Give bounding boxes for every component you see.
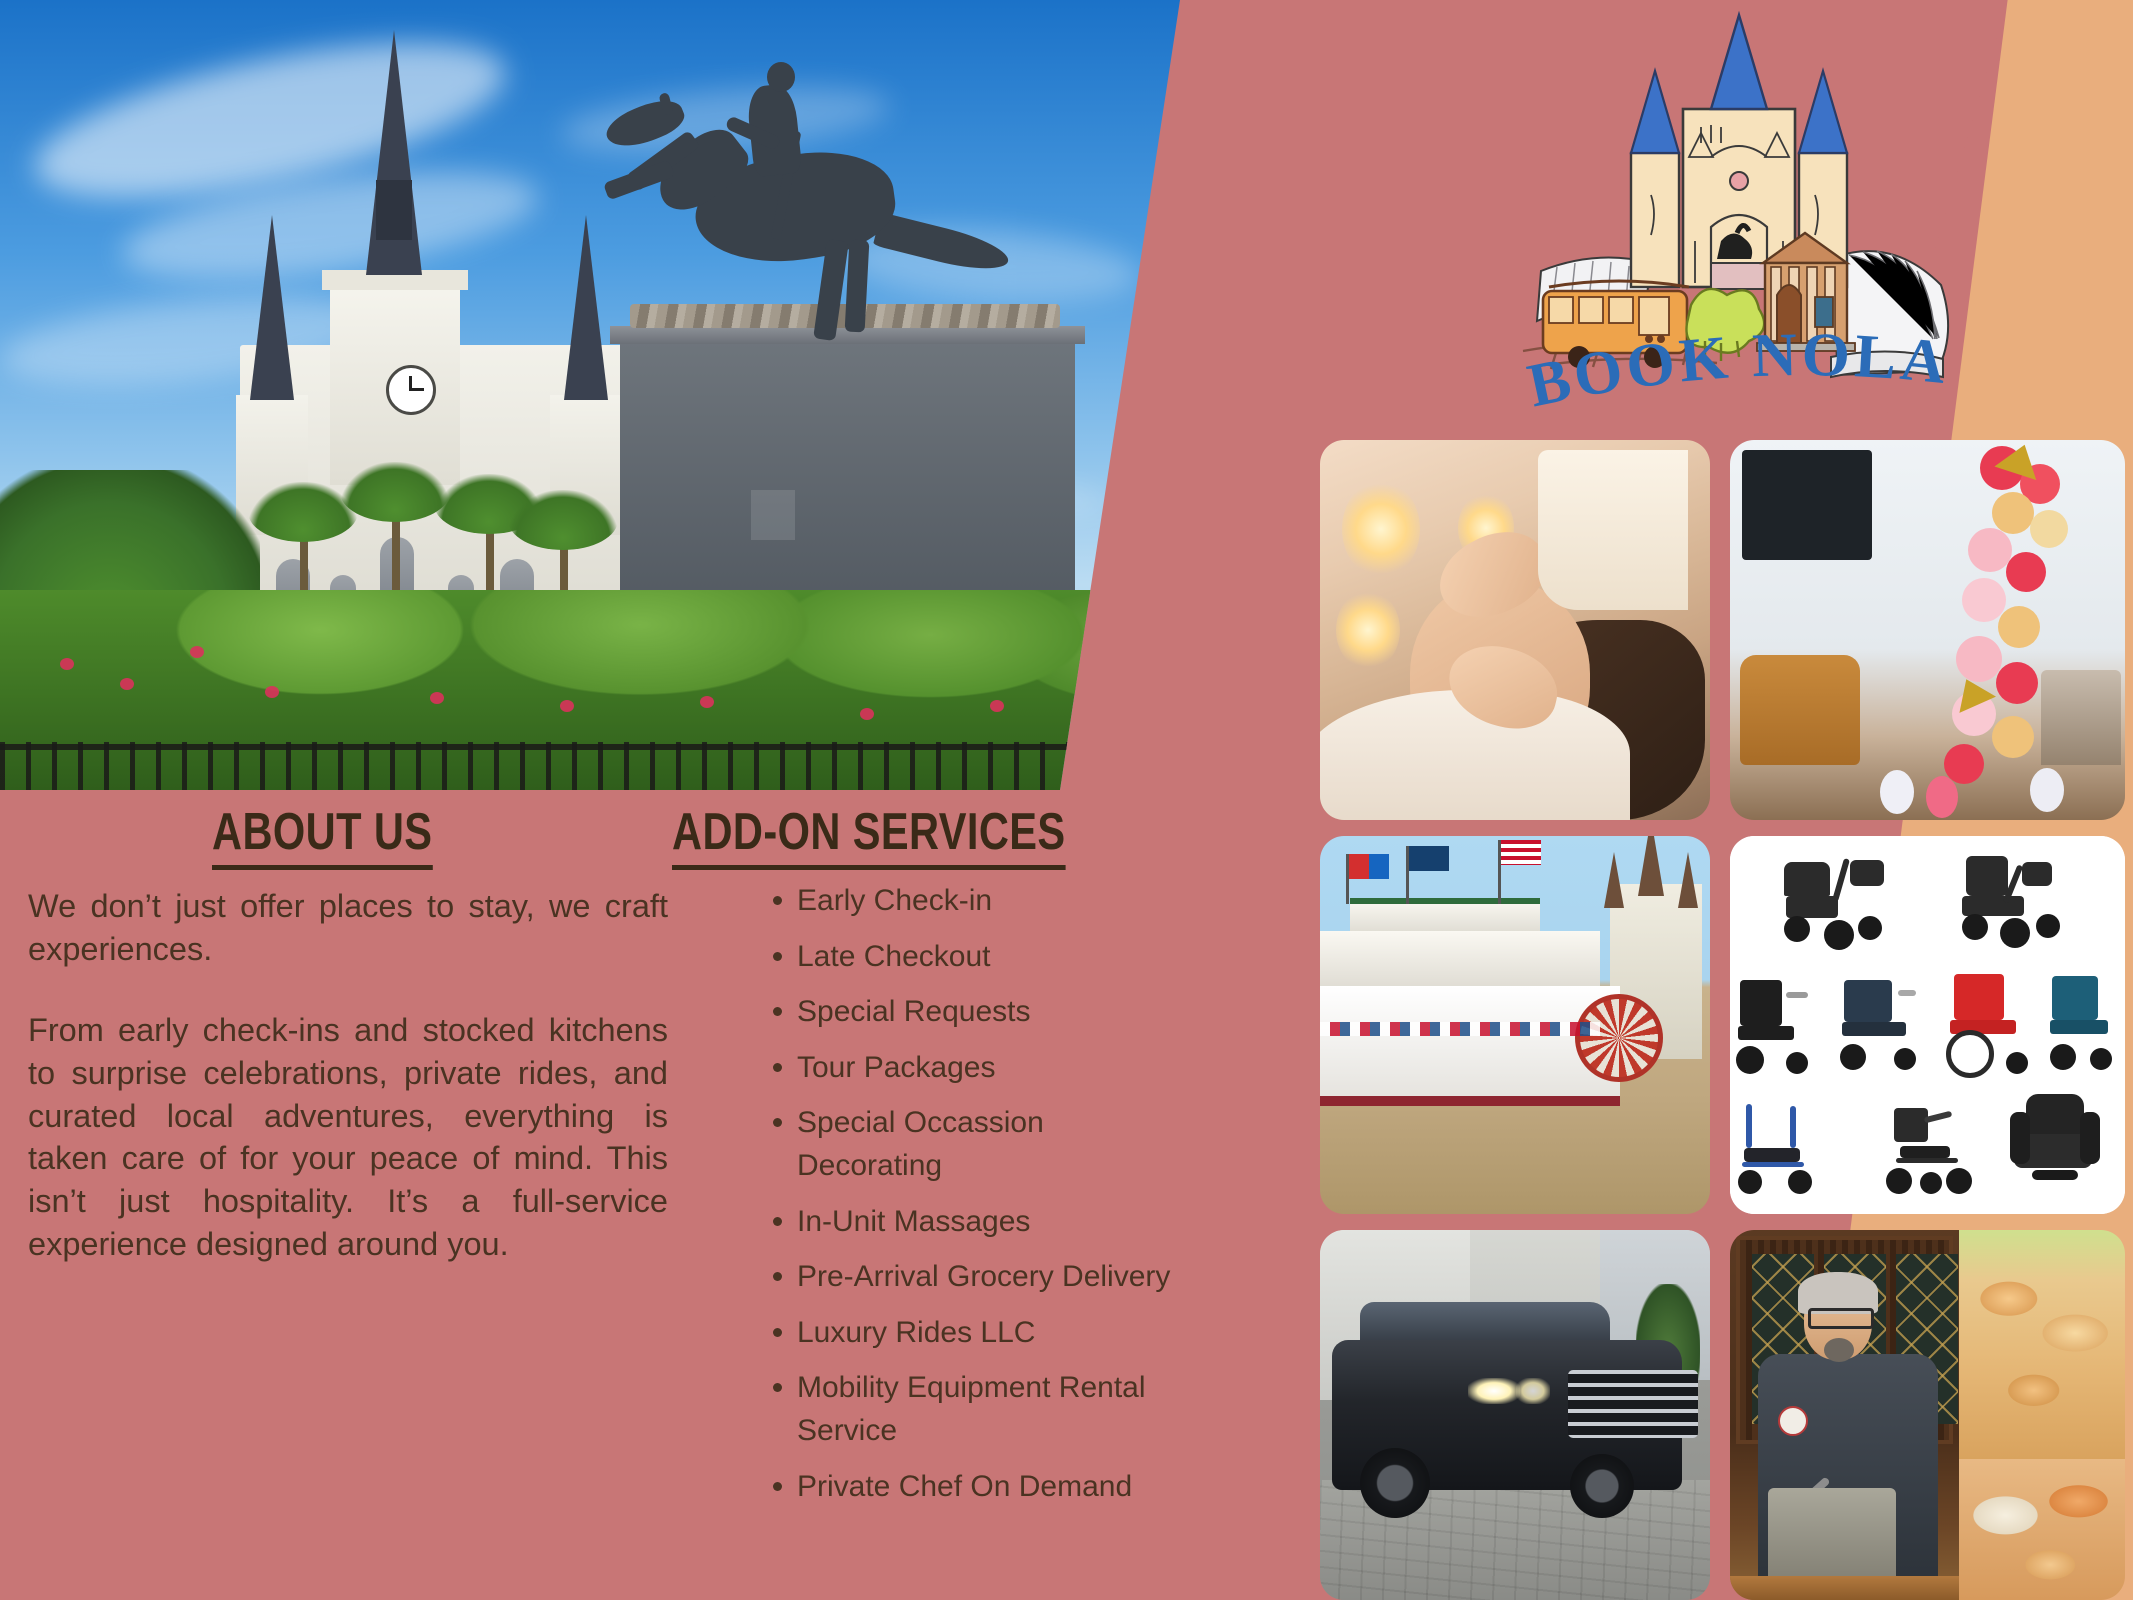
service-item: Tour Packages: [765, 1047, 1185, 1090]
text-columns: ABOUT US ADD-ON SERVICES We don’t just o…: [0, 780, 1200, 1600]
service-item: Pre-Arrival Grocery Delivery: [765, 1256, 1185, 1299]
mobility-equipment-photo: [1730, 836, 2125, 1214]
add-on-services-heading: ADD-ON SERVICES: [672, 802, 1066, 870]
about-paragraph-1: We don’t just offer places to stay, we c…: [28, 885, 668, 971]
add-on-services-list: Early Check-in Late Checkout Special Req…: [765, 880, 1185, 1521]
about-us-body: We don’t just offer places to stay, we c…: [28, 885, 668, 1266]
service-item: Special Occassion Decorating: [765, 1102, 1185, 1187]
service-item: Private Chef On Demand: [765, 1466, 1185, 1509]
paddle-wheel: [1575, 994, 1663, 1082]
photo-gallery: [1320, 440, 2120, 1600]
service-item: Special Requests: [765, 991, 1185, 1034]
hero-photo: [0, 0, 1180, 790]
brochure-page: BOOK NOLA ABOUT US ADD-ON SERVICES We do…: [0, 0, 2133, 1600]
about-paragraph-2: From early check-ins and stocked kitchen…: [28, 1009, 668, 1266]
about-us-heading: ABOUT US: [212, 802, 432, 870]
andrew-jackson-statue: [575, 0, 1005, 320]
pasta-dish-photo: [1959, 1230, 2125, 1459]
steamboat-natchez-photo: [1320, 836, 1710, 1214]
luxury-suv-photo: [1320, 1230, 1710, 1600]
cathedral-clock: [386, 365, 436, 415]
balloon-decor-photo: [1730, 440, 2125, 820]
in-unit-massage-photo: [1320, 440, 1710, 820]
service-item: Early Check-in: [765, 880, 1185, 923]
wall-tv: [1742, 450, 1872, 560]
service-item: Mobility Equipment Rental Service: [765, 1367, 1185, 1452]
seafood-dish-photo: [1959, 1459, 2125, 1600]
service-item: Late Checkout: [765, 936, 1185, 979]
armchair: [1740, 655, 1860, 765]
service-item: Luxury Rides LLC: [765, 1312, 1185, 1355]
service-item: In-Unit Massages: [765, 1201, 1185, 1244]
private-chef-and-food-photo: [1730, 1230, 2125, 1600]
book-nola-logo[interactable]: BOOK NOLA: [1505, 5, 1975, 425]
